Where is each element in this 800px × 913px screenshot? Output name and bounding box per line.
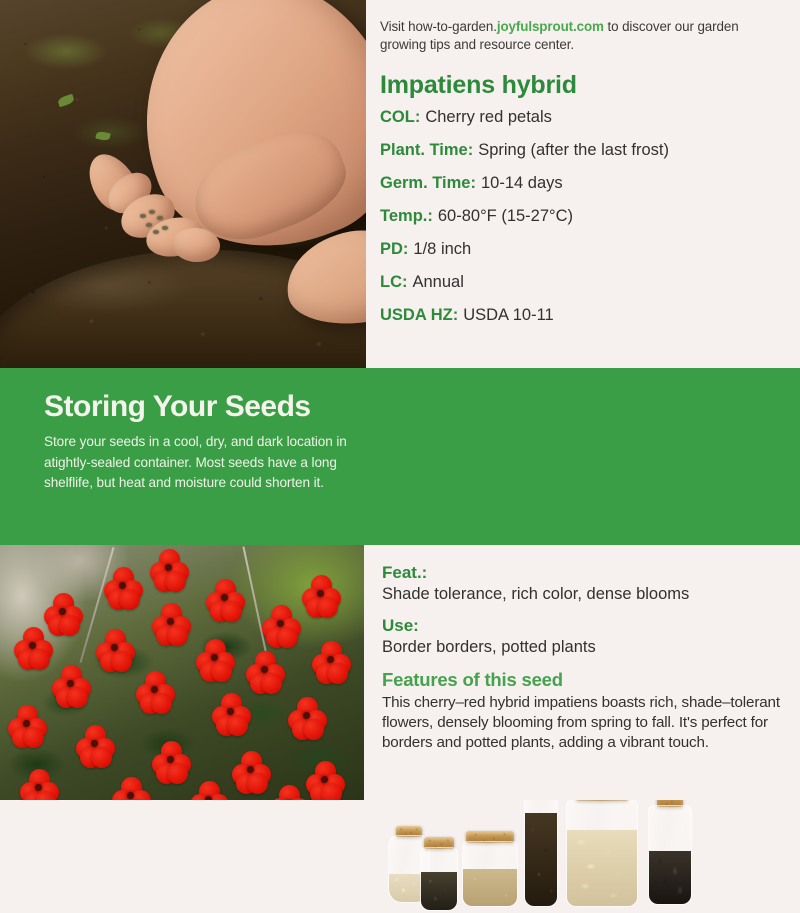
- use-block: Use: Border borders, potted plants: [382, 616, 782, 657]
- spec-label: Plant. Time:: [380, 141, 473, 160]
- seed-description-block: Features of this seed This cherry–red hy…: [382, 669, 782, 754]
- seed-jar: [566, 799, 638, 907]
- features-body: This cherry–red hybrid impatiens boasts …: [382, 693, 782, 754]
- spec-row-lc: LC: Annual: [380, 273, 784, 306]
- storing-text-block: Storing Your Seeds Store your seeds in a…: [44, 390, 374, 494]
- spec-row-usda-hz: USDA HZ: USDA 10-11: [380, 306, 784, 339]
- spec-value: 10-14 days: [481, 174, 563, 193]
- flower-bloom: [52, 665, 90, 703]
- features-block: Feat.: Shade tolerance, rich color, dens…: [382, 563, 782, 604]
- flower-bloom: [8, 705, 46, 743]
- spec-list: COL: Cherry red petals Plant. Time: Spri…: [380, 108, 784, 339]
- red-impatiens-image: [0, 545, 364, 800]
- spec-row-pd: PD: 1/8 inch: [380, 240, 784, 273]
- flower-bloom: [112, 777, 150, 800]
- flower-bloom: [232, 751, 270, 789]
- flower-bloom: [212, 693, 250, 731]
- jar-contents: [525, 813, 557, 906]
- flower-bloom: [270, 785, 308, 800]
- flower-bloom: [152, 741, 190, 779]
- spec-row-germ-time: Germ. Time: 10-14 days: [380, 174, 784, 207]
- flower-bloom: [288, 697, 326, 735]
- jar-contents: [649, 851, 691, 904]
- spec-label: Temp.:: [380, 207, 433, 226]
- features-heading: Features of this seed: [382, 669, 782, 691]
- spec-label: PD:: [380, 240, 408, 259]
- spec-row-col: COL: Cherry red petals: [380, 108, 784, 141]
- flower-bloom: [76, 725, 114, 763]
- spec-row-plant-time: Plant. Time: Spring (after the last fros…: [380, 141, 784, 174]
- spec-row-temp: Temp.: 60-80°F (15-27°C): [380, 207, 784, 240]
- spec-label: COL:: [380, 108, 420, 127]
- flower-bloom: [246, 651, 284, 689]
- flower-bloom: [312, 641, 350, 679]
- flower-bloom: [14, 627, 52, 665]
- storing-seeds-section: Storing Your Seeds Store your seeds in a…: [0, 368, 800, 545]
- flower-bloom: [206, 579, 244, 617]
- flower-bloom: [152, 603, 190, 641]
- feat-value: Shade tolerance, rich color, dense bloom…: [382, 585, 782, 604]
- flower-bloom: [136, 671, 174, 709]
- jar-contents: [421, 872, 457, 910]
- seed-packet-infographic: Visit how-to-garden.joyfulsprout.com to …: [0, 0, 800, 800]
- jar-glass: [648, 805, 692, 905]
- flower-bloom: [196, 639, 234, 677]
- website-link[interactable]: joyfulsprout.com: [497, 19, 604, 34]
- spec-value: 1/8 inch: [413, 240, 471, 259]
- jar-glass: [566, 799, 638, 907]
- seed-jar: [462, 841, 518, 907]
- storing-body: Store your seeds in a cool, dry, and dar…: [44, 432, 374, 494]
- feat-label: Feat.:: [382, 563, 782, 583]
- jar-contents: [567, 830, 637, 906]
- page-title: Impatiens hybrid: [380, 71, 784, 100]
- flower-bloom: [302, 575, 340, 613]
- use-value: Border borders, potted plants: [382, 638, 782, 657]
- storing-heading: Storing Your Seeds: [44, 390, 374, 424]
- seed-jar: [420, 847, 458, 911]
- flower-bloom: [20, 769, 58, 800]
- flower-bloom: [96, 629, 134, 667]
- plant-spec-panel: Visit how-to-garden.joyfulsprout.com to …: [366, 0, 800, 368]
- jar-glass: [420, 847, 458, 911]
- hand-sowing-seeds-image: [0, 0, 366, 368]
- flower-bloom: [104, 567, 142, 605]
- spec-value: 60-80°F (15-27°C): [438, 207, 573, 226]
- spec-label: USDA HZ:: [380, 306, 458, 325]
- flower-bloom: [262, 605, 300, 643]
- spec-value: Spring (after the last frost): [478, 141, 669, 160]
- seeds-in-hand: [138, 208, 178, 238]
- spec-label: Germ. Time:: [380, 174, 476, 193]
- spec-value: Cherry red petals: [425, 108, 552, 127]
- spec-label: LC:: [380, 273, 408, 292]
- spec-value: USDA 10-11: [463, 306, 554, 325]
- flower-bloom: [306, 761, 344, 799]
- seed-details-panel: Feat.: Shade tolerance, rich color, dens…: [364, 545, 800, 800]
- seed-jar: [648, 805, 692, 905]
- visit-prefix: Visit how-to-garden.: [380, 19, 497, 34]
- jar-contents: [463, 869, 517, 906]
- flower-bloom: [190, 781, 228, 800]
- flower-bloom: [44, 593, 82, 631]
- use-label: Use:: [382, 616, 782, 636]
- visit-website-note: Visit how-to-garden.joyfulsprout.com to …: [380, 18, 784, 54]
- spec-value: Annual: [413, 273, 464, 292]
- jar-glass: [462, 841, 518, 907]
- flower-bloom: [150, 549, 188, 587]
